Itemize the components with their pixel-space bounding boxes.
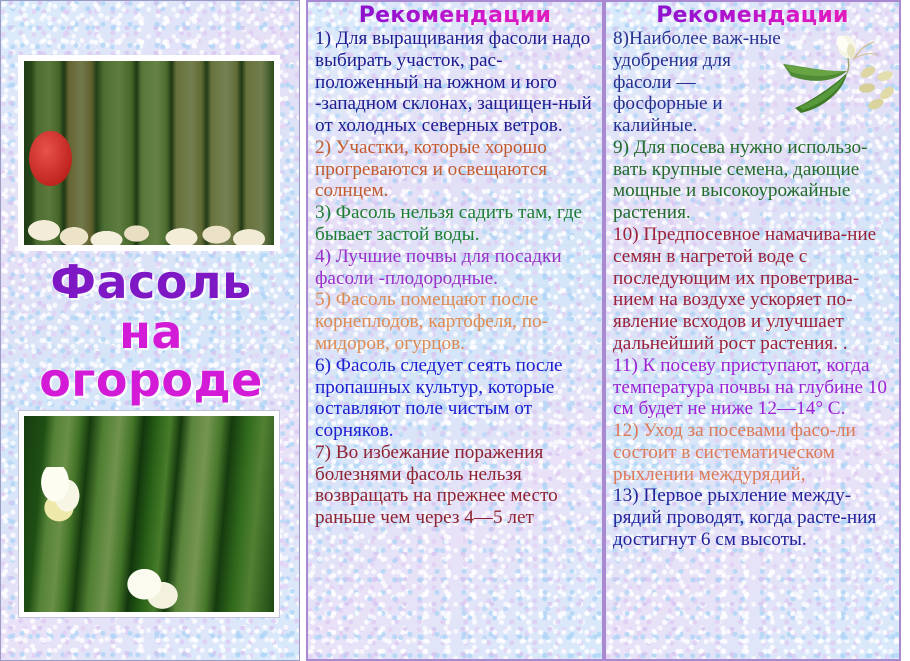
list-item: 8)Наиболее важ-ные удобрения для фасоли … — [613, 28, 788, 137]
title-line-2: на огороде — [1, 309, 301, 405]
middle-panel-heading: Рекомендации — [308, 3, 602, 28]
title-line-1: Фасоль — [1, 259, 301, 307]
list-item: 7) Во избежание поражения болезнями фасо… — [315, 442, 597, 529]
list-item: 11) К посеву приступают, когда температу… — [613, 355, 894, 420]
bean-pods-photo — [24, 61, 274, 245]
left-panel: Фасоль на огороде — [0, 0, 300, 661]
bean-plant-photo — [24, 416, 274, 612]
list-item: 6) Фасоль следует сеять после пропашных … — [315, 355, 597, 442]
page-title: Фасоль на огороде — [1, 259, 301, 404]
list-item: 3) Фасоль нельзя садить там, где бывает … — [315, 202, 597, 246]
middle-panel-list: 1) Для выращивания фасоли надо выбирать … — [308, 28, 602, 529]
list-item: 9) Для посева нужно использо-вать крупны… — [613, 137, 894, 224]
bean-plant-photo-frame — [18, 410, 280, 618]
bean-pods-photo-frame — [18, 55, 280, 251]
list-item: 13) Первое рыхление между-рядий проводят… — [613, 485, 894, 550]
list-item: 1) Для выращивания фасоли надо выбирать … — [315, 28, 597, 137]
list-item: 10) Предпосевное намачива-ние семян в на… — [613, 224, 894, 355]
right-panel-heading: Рекомендации — [606, 3, 899, 28]
right-panel-list: 8)Наиболее важ-ные удобрения для фасоли … — [606, 28, 899, 551]
slide-root: Фасоль на огороде Рекомендации 1) Для вы… — [0, 0, 910, 661]
list-item: 12) Уход за посевами фасо-ли состоит в с… — [613, 420, 894, 485]
list-item: 2) Участки, которые хорошо прогреваются … — [315, 137, 597, 202]
middle-panel: Рекомендации 1) Для выращивания фасоли н… — [306, 0, 604, 661]
list-item: 4) Лучшие почвы для посадки фасоли -плод… — [315, 246, 597, 290]
right-panel: Рекомендации 8)Наиболее важ-ные удобр — [604, 0, 901, 661]
list-item: 5) Фасоль помещают после корнеплодов, ка… — [315, 289, 597, 354]
